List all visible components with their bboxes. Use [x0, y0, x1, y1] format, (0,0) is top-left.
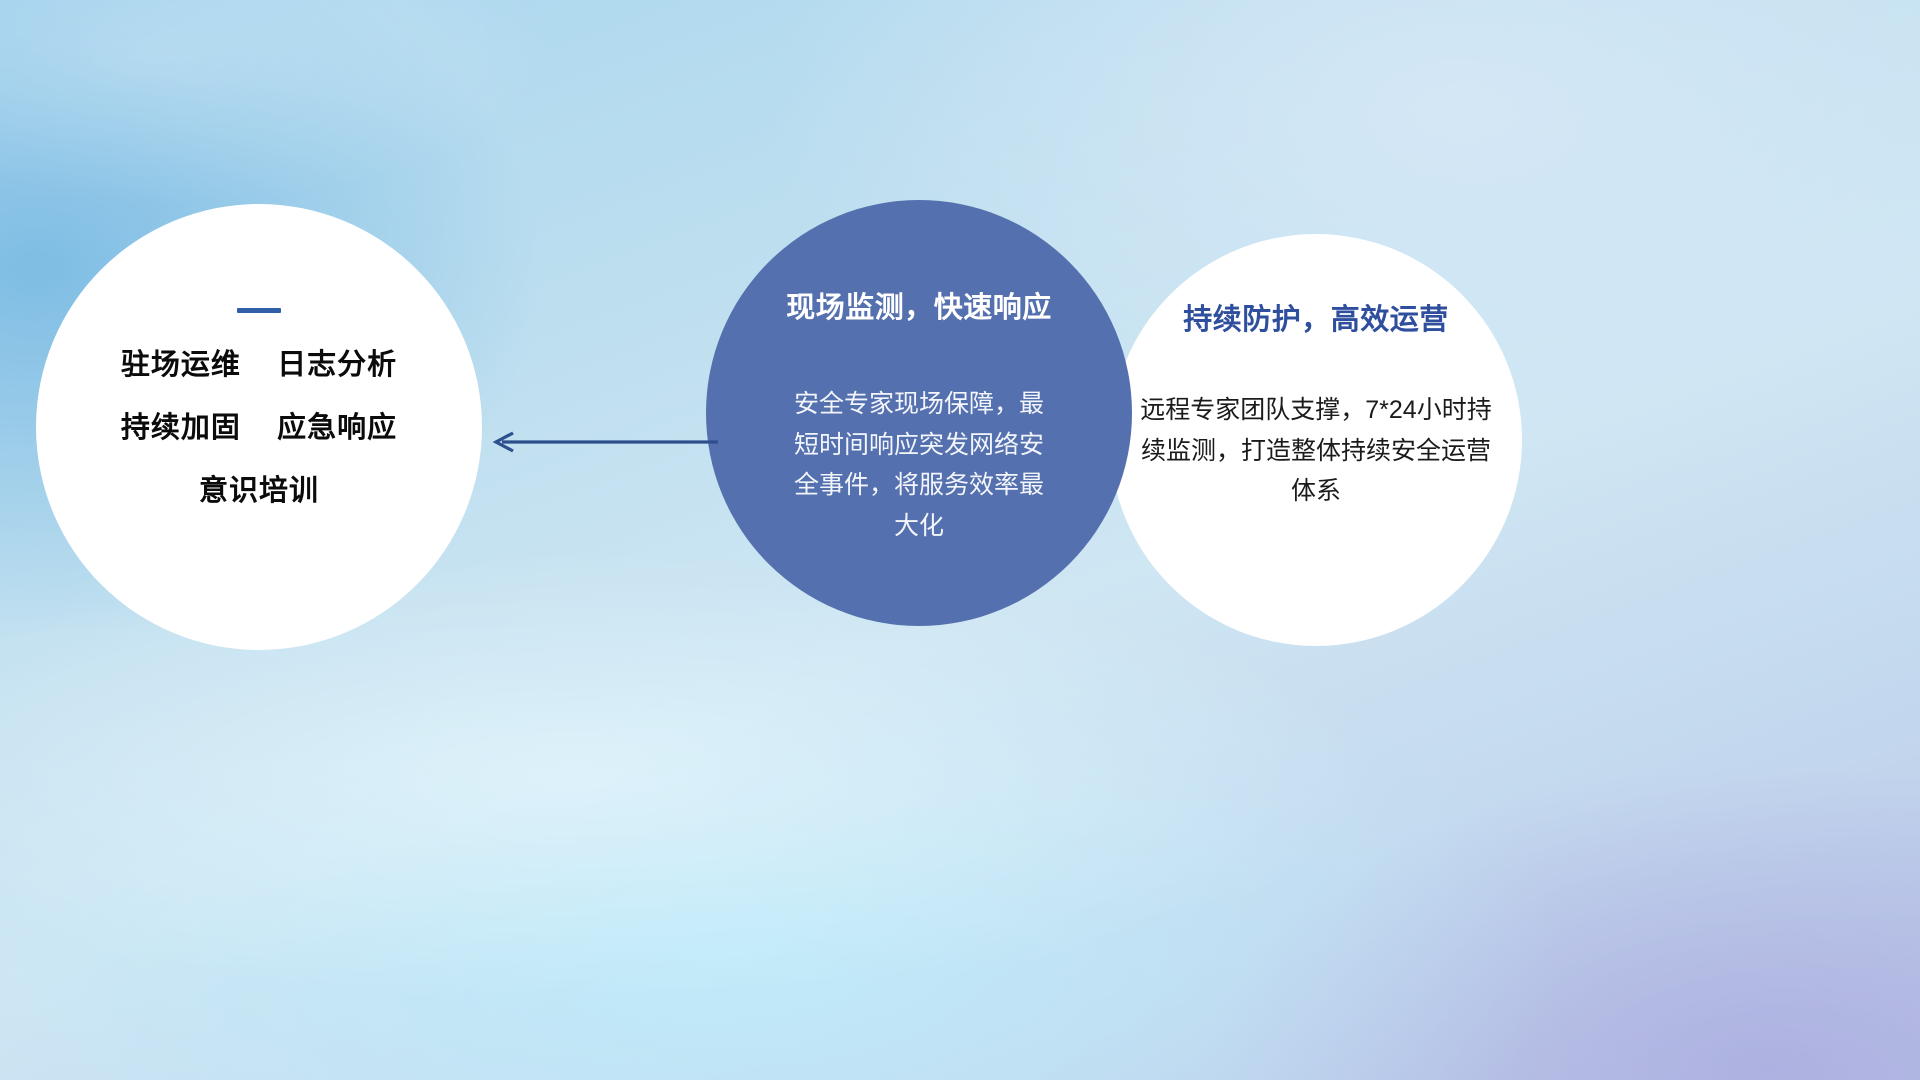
services-line-1: 驻场运维 日志分析	[121, 351, 397, 380]
flow-arrow-left-icon	[480, 420, 720, 464]
onsite-title: 现场监测，快速响应	[786, 284, 1052, 326]
services-line-2: 持续加固 应急响应	[121, 414, 397, 443]
divider-dash	[237, 308, 281, 313]
onsite-circle: 现场监测，快速响应 安全专家现场保障，最短时间响应突发网络安全事件，将服务效率最…	[706, 200, 1132, 626]
ops-circle: 持续防护，高效运营 远程专家团队支撑，7*24小时持续监测，打造整体持续安全运营…	[1110, 234, 1522, 646]
ops-body-text: 远程专家团队支撑，7*24小时持续监测，打造整体持续安全运营体系	[1138, 390, 1494, 512]
services-line-3: 意识培训	[199, 477, 319, 506]
onsite-body-text: 安全专家现场保障，最短时间响应突发网络安全事件，将服务效率最大化	[784, 384, 1054, 546]
ops-title: 持续防护，高效运营	[1183, 296, 1449, 338]
services-circle: 驻场运维 日志分析 持续加固 应急响应 意识培训	[36, 204, 482, 650]
